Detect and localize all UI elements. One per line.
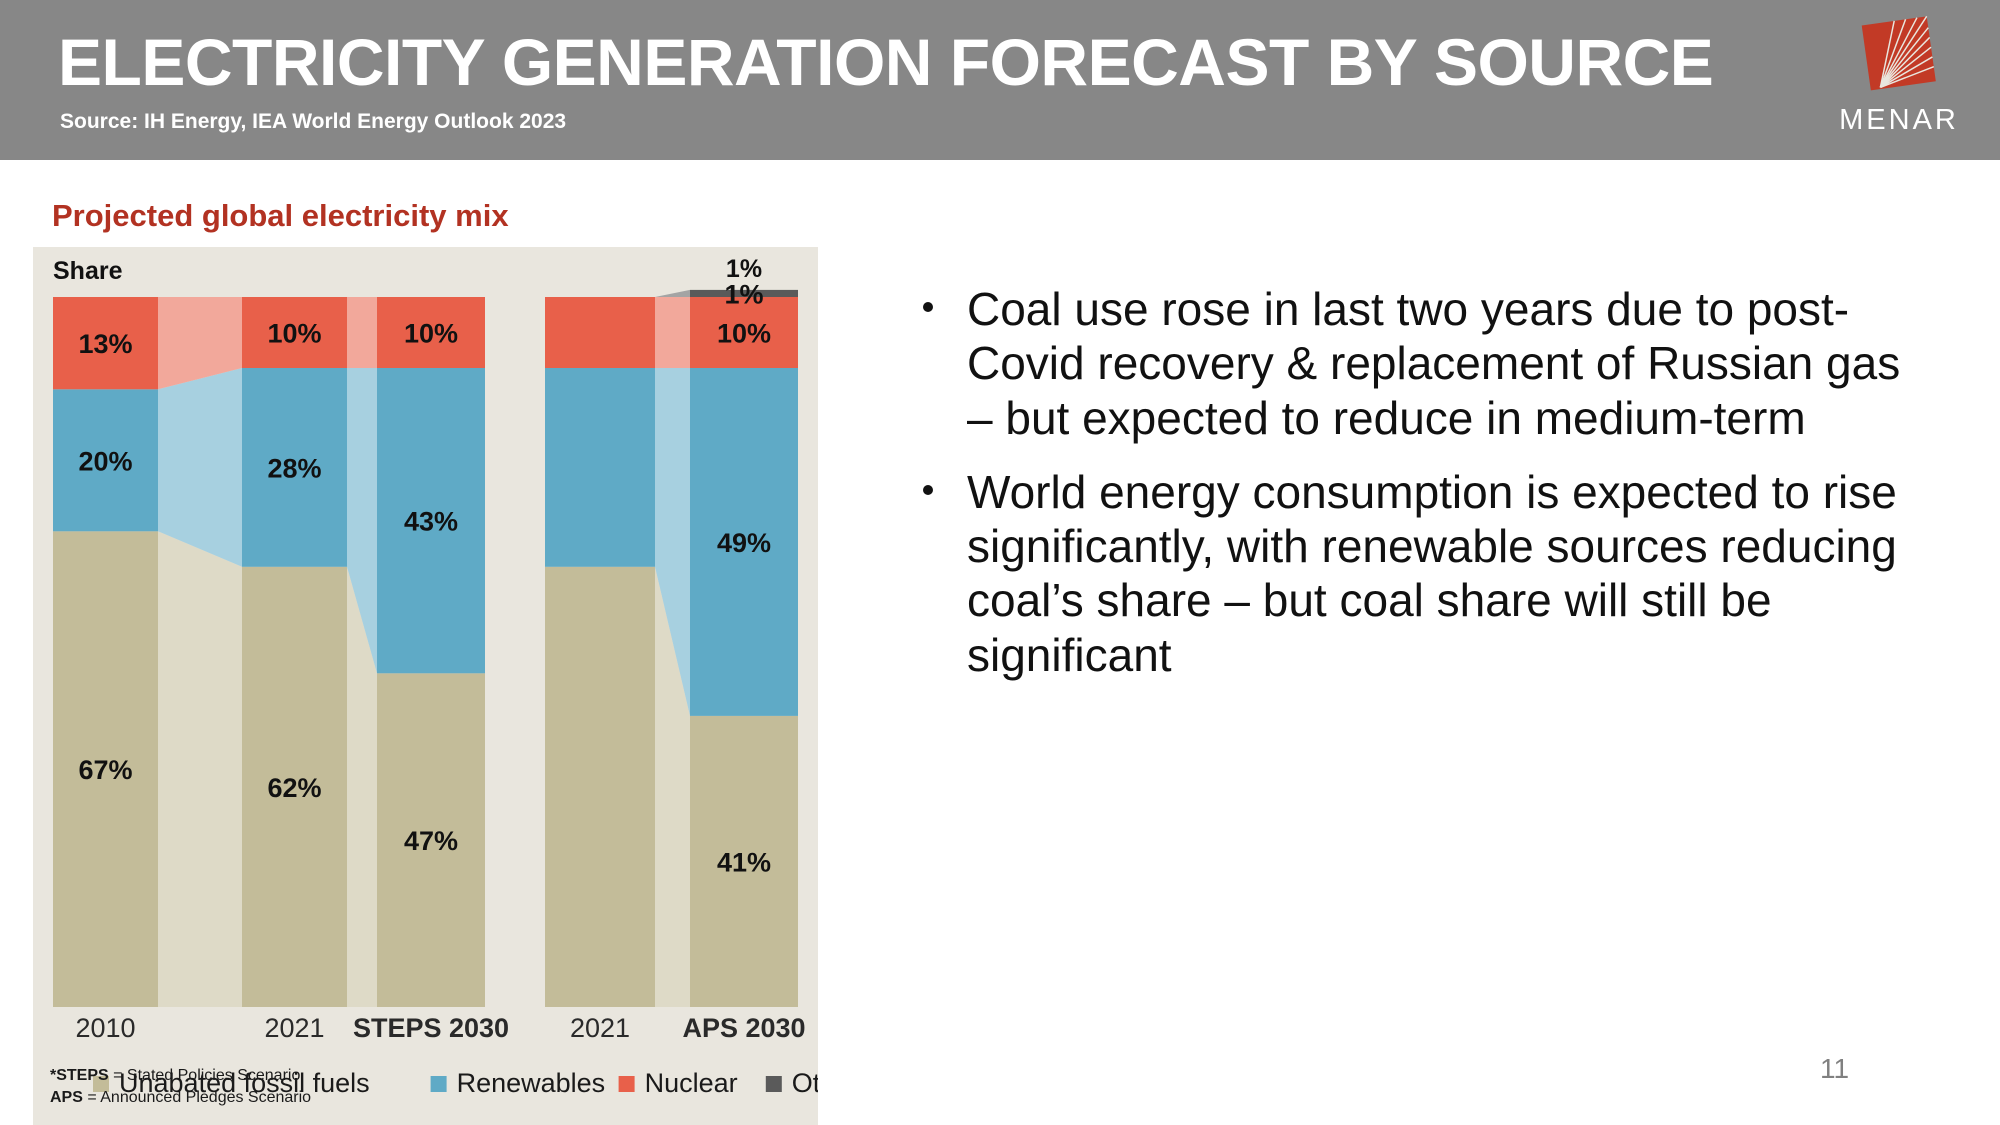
list-item: World energy consumption is expected to …	[895, 465, 1915, 682]
svg-text:1%: 1%	[724, 279, 763, 309]
footnote-steps-text: = Stated Policies Scenario	[109, 1067, 301, 1084]
footnote-steps: *STEPS = Stated Policies Scenario	[50, 1065, 311, 1087]
svg-text:2010: 2010	[75, 1013, 135, 1043]
svg-text:1%: 1%	[726, 255, 762, 283]
logo-mark-icon	[1858, 14, 1940, 96]
chart-footnotes: *STEPS = Stated Policies Scenario APS = …	[50, 1065, 311, 1108]
svg-text:10%: 10%	[267, 319, 321, 349]
list-item: Coal use rose in last two years due to p…	[895, 282, 1915, 445]
svg-text:2021: 2021	[264, 1013, 324, 1043]
bullet-list: Coal use rose in last two years due to p…	[895, 282, 1915, 702]
svg-text:20%: 20%	[78, 446, 132, 476]
page-number: 11	[1820, 1053, 1849, 1085]
svg-text:13%: 13%	[78, 329, 132, 359]
svg-text:62%: 62%	[267, 773, 321, 803]
svg-text:28%: 28%	[267, 453, 321, 483]
page-title: ELECTRICITY GENERATION FORECAST BY SOURC…	[58, 24, 1713, 100]
svg-text:Renewables: Renewables	[457, 1068, 606, 1098]
source-citation: Source: IH Energy, IEA World Energy Outl…	[60, 110, 566, 134]
svg-text:Share: Share	[53, 257, 123, 285]
footnote-steps-key: *STEPS	[50, 1067, 109, 1084]
svg-text:10%: 10%	[404, 319, 458, 349]
bullet-text: World energy consumption is expected to …	[967, 466, 1897, 681]
svg-text:APS 2030: APS 2030	[682, 1013, 805, 1043]
svg-text:STEPS 2030: STEPS 2030	[353, 1013, 509, 1043]
svg-text:41%: 41%	[717, 847, 771, 877]
svg-text:43%: 43%	[404, 507, 458, 537]
electricity-mix-chart: 67%20%13%201062%28%10%202147%43%10%STEPS…	[33, 247, 818, 1125]
svg-text:10%: 10%	[717, 319, 771, 349]
brand-wordmark: MENAR	[1834, 104, 1964, 137]
svg-text:47%: 47%	[404, 826, 458, 856]
bullet-dot-icon	[923, 485, 933, 495]
chart-panel: 67%20%13%201062%28%10%202147%43%10%STEPS…	[33, 247, 818, 1125]
svg-text:Other: Other	[792, 1068, 818, 1098]
bullet-text: Coal use rose in last two years due to p…	[967, 283, 1900, 444]
bullet-dot-icon	[923, 302, 933, 312]
footnote-aps-key: APS	[50, 1089, 83, 1106]
chart-title: Projected global electricity mix	[52, 198, 509, 234]
svg-text:49%: 49%	[717, 528, 771, 558]
svg-text:2021: 2021	[570, 1013, 630, 1043]
svg-text:67%: 67%	[78, 755, 132, 785]
menar-logo: MENAR	[1834, 12, 1964, 147]
footnote-aps-text: = Announced Pledges Scenario	[83, 1089, 311, 1106]
svg-text:Nuclear: Nuclear	[645, 1068, 738, 1098]
footnote-aps: APS = Announced Pledges Scenario	[50, 1087, 311, 1109]
